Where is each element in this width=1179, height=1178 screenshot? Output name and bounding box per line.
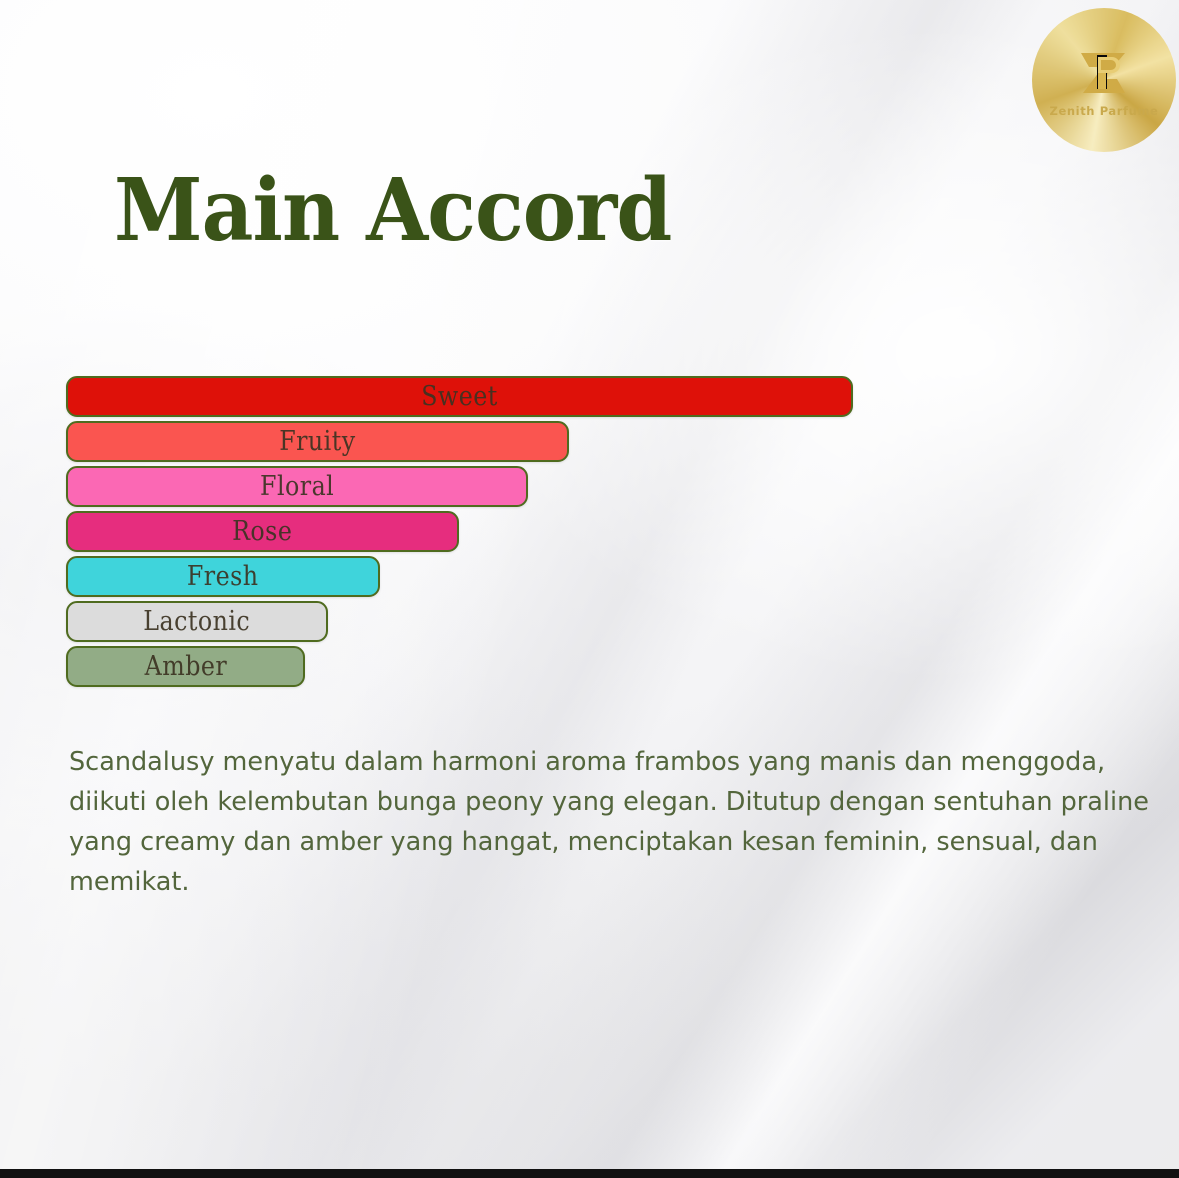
brand-logo: Zenith Parfume <box>1032 8 1176 152</box>
bar-row: Sweet <box>66 376 866 421</box>
page-title: Main Accord <box>114 168 671 254</box>
description-text: Scandalusy menyatu dalam harmoni aroma f… <box>69 742 1174 902</box>
bar-label: Rose <box>232 516 292 547</box>
bar-sweet: Sweet <box>66 376 853 417</box>
bar-label: Fruity <box>279 426 355 457</box>
bar-label: Sweet <box>421 381 497 412</box>
bar-lactonic: Lactonic <box>66 601 328 642</box>
main-accord-bar-chart: SweetFruityFloralRoseFreshLactonicAmber <box>66 376 866 691</box>
bar-label: Lactonic <box>144 606 251 637</box>
slide-canvas: Zenith Parfume Main Accord SweetFruityFl… <box>0 0 1179 1178</box>
bar-row: Floral <box>66 466 866 511</box>
bar-label: Fresh <box>187 561 259 592</box>
zp-monogram-icon <box>1073 49 1135 97</box>
bottom-edge-bar <box>0 1169 1179 1178</box>
brand-logo-text: Zenith Parfume <box>1050 104 1159 118</box>
bar-row: Fruity <box>66 421 866 466</box>
bar-row: Rose <box>66 511 866 556</box>
bar-fresh: Fresh <box>66 556 380 597</box>
bar-fruity: Fruity <box>66 421 569 462</box>
bar-rose: Rose <box>66 511 459 552</box>
bar-row: Fresh <box>66 556 866 601</box>
bar-floral: Floral <box>66 466 528 507</box>
bar-label: Amber <box>144 651 227 682</box>
bar-row: Amber <box>66 646 866 691</box>
bar-row: Lactonic <box>66 601 866 646</box>
bar-label: Floral <box>260 471 334 502</box>
bar-amber: Amber <box>66 646 305 687</box>
